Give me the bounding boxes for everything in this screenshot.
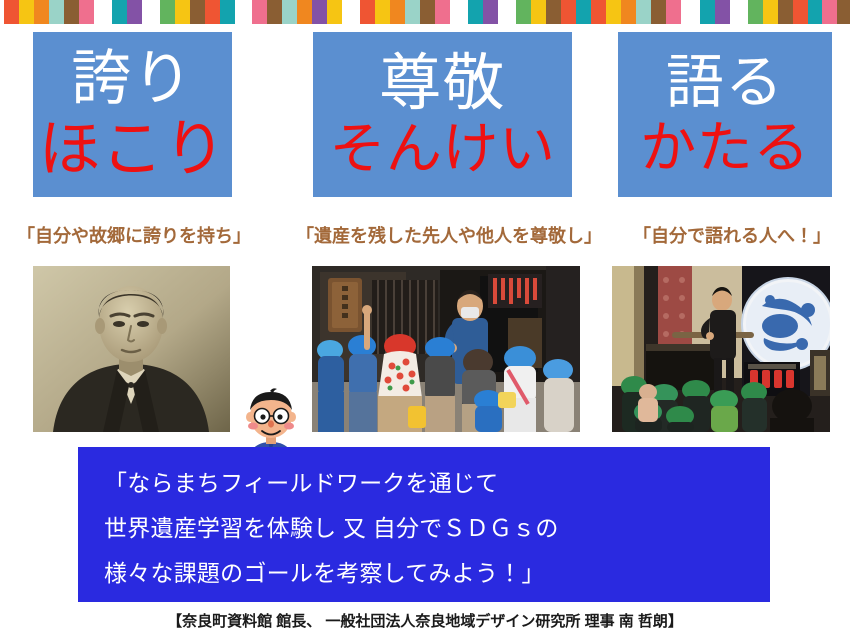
tape-group [822,0,850,24]
tape-stripe [127,0,142,24]
tape-stripe [808,0,823,24]
tape-group [160,0,235,24]
tape-stripe [822,0,837,24]
tape-stripe [64,0,79,24]
tape-stripe [763,0,778,24]
museum-visit-photo [612,266,830,432]
tape-stripe [636,0,651,24]
tape-group [700,0,730,24]
tape-stripe [297,0,312,24]
presentation-slide: 誇り ほこり 尊敬 そんけい 語る かたる 「自分や故郷に誇りを持ち」 「遺産を… [0,0,850,638]
children-fieldwork-photo [312,266,580,432]
tape-stripe [778,0,793,24]
tape-stripe [312,0,327,24]
tape-stripe [621,0,636,24]
title-card-respect: 尊敬 そんけい [313,32,572,197]
tape-stripe [531,0,546,24]
tape-stripe [715,0,730,24]
title-kana-pride: ほこり [39,119,227,181]
washi-tape-border [0,0,850,24]
tape-stripe [435,0,450,24]
tape-group [468,0,498,24]
tape-stripe [546,0,561,24]
title-card-pride: 誇り ほこり [33,32,232,197]
tape-stripe [19,0,34,24]
caption-pride: 「自分や故郷に誇りを持ち」 [17,226,251,248]
tape-group [360,0,450,24]
tape-stripe [651,0,666,24]
title-kanji-respect: 尊敬 [379,53,505,115]
tape-stripe [793,0,808,24]
quote-line-3: 様々な課題のゴールを考察してみよう！」 [104,551,770,596]
attribution-line: 【奈良町資料館 館長、 一般社団法人奈良地域デザイン研究所 理事 南 哲朗】 [0,610,850,631]
tape-stripe [390,0,405,24]
tape-stripe [360,0,375,24]
fieldwork-graphic [312,266,580,432]
caption-respect: 「遺産を残した先人や他人を尊敬し」 [296,226,602,248]
tape-stripe [79,0,94,24]
title-card-narrate: 語る かたる [618,32,832,197]
tape-stripe [160,0,175,24]
tape-stripe [34,0,49,24]
tape-stripe [591,0,606,24]
tape-stripe [220,0,235,24]
quote-box: 「ならまちフィールドワークを通じて 世界遺産学習を体験し 又 自分でＳＤＧｓの … [78,447,770,602]
tape-stripe [267,0,282,24]
tape-stripe [666,0,681,24]
historical-portrait-photo [33,266,230,432]
portrait-graphic [33,266,230,432]
quote-line-2: 世界遺産学習を体験し 又 自分でＳＤＧｓの [104,506,770,551]
title-kana-respect: そんけい [329,121,555,177]
tape-stripe [405,0,420,24]
title-kana-narrate: かたる [640,120,810,176]
tape-group [748,0,823,24]
tape-stripe [561,0,576,24]
tape-stripe [375,0,390,24]
tape-group [112,0,142,24]
title-kanji-pride: 誇り [71,49,193,109]
tape-stripe [4,0,19,24]
tape-stripe [837,0,850,24]
tape-stripe [516,0,531,24]
title-kanji-narrate: 語る [666,54,784,112]
tape-stripe [49,0,64,24]
tape-stripe [112,0,127,24]
museum-graphic [612,266,830,432]
tape-stripe [252,0,267,24]
tape-stripe [190,0,205,24]
tape-stripe [483,0,498,24]
tape-stripe [205,0,220,24]
tape-group [252,0,342,24]
tape-stripe [748,0,763,24]
tape-stripe [606,0,621,24]
quote-line-1: 「ならまちフィールドワークを通じて [104,461,770,506]
tape-group [516,0,681,24]
tape-stripe [282,0,297,24]
tape-group [4,0,94,24]
tape-stripe [468,0,483,24]
tape-stripe [576,0,591,24]
tape-stripe [420,0,435,24]
caption-narrate: 「自分で語れる人へ！」 [633,226,831,248]
tape-stripe [175,0,190,24]
tape-stripe [700,0,715,24]
tape-stripe [327,0,342,24]
